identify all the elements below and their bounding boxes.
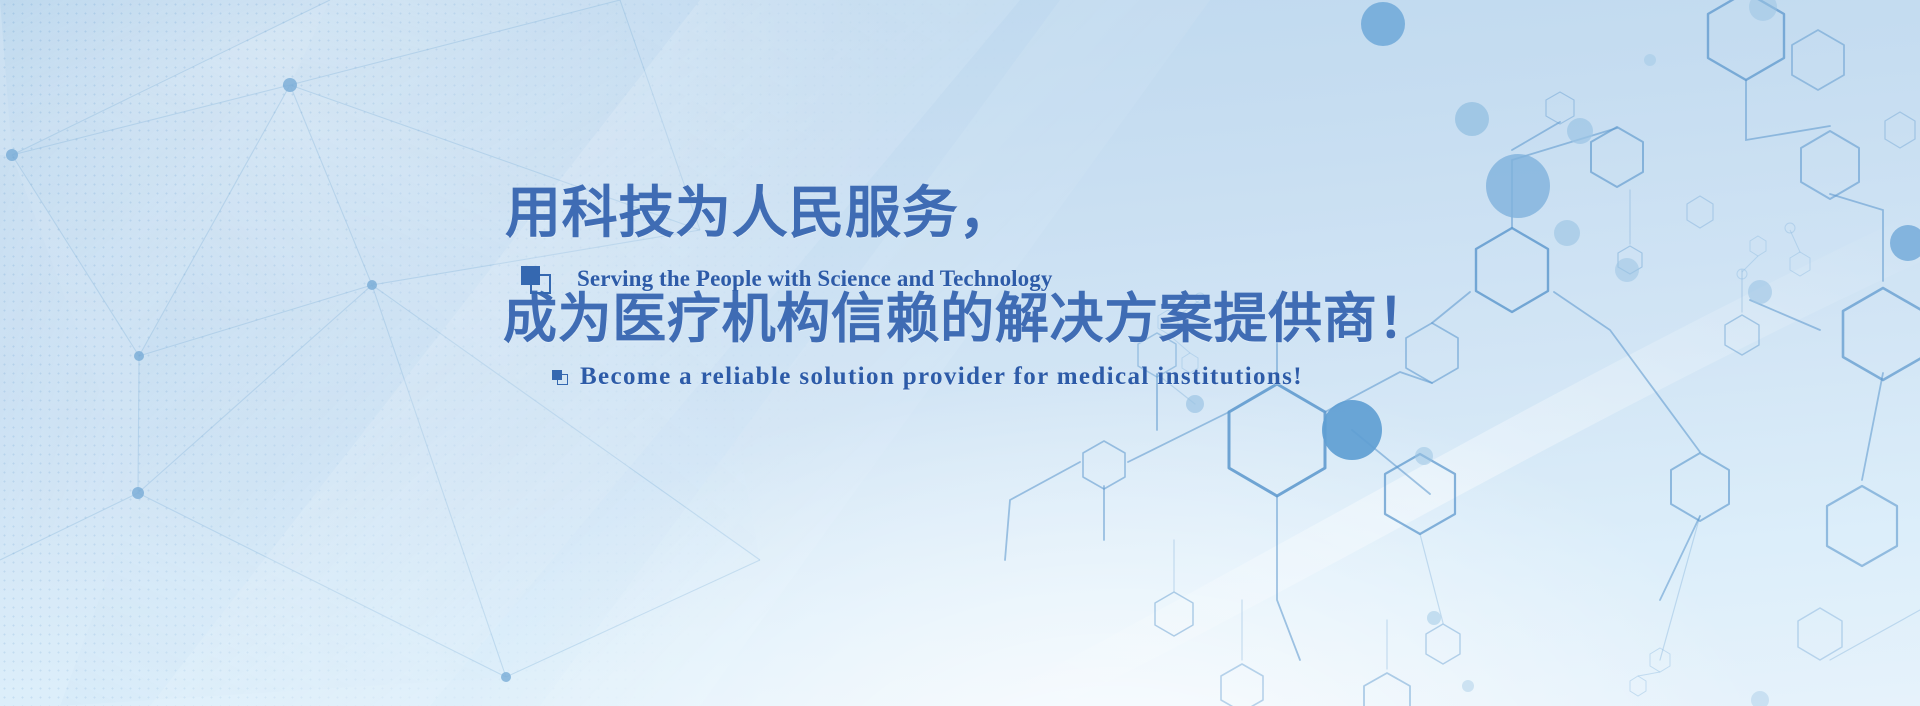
banner-copy-block: 用科技为人民服务， Serving the People with Scienc…: [505, 186, 1505, 391]
stacked-squares-filled-shape: [552, 370, 562, 380]
stacked-squares-icon: [521, 266, 551, 292]
secondary-headline-cn: 成为医疗机构信赖的解决方案提供商！: [503, 292, 1505, 346]
stacked-squares-filled-shape: [521, 266, 540, 285]
secondary-subtitle-en: Become a reliable solution provider for …: [580, 363, 1303, 391]
stacked-squares-icon-small: [552, 370, 568, 385]
secondary-subtitle-row: Become a reliable solution provider for …: [552, 363, 1505, 391]
primary-headline-cn: 用科技为人民服务，: [505, 186, 1505, 242]
hero-banner: 用科技为人民服务， Serving the People with Scienc…: [0, 0, 1920, 706]
